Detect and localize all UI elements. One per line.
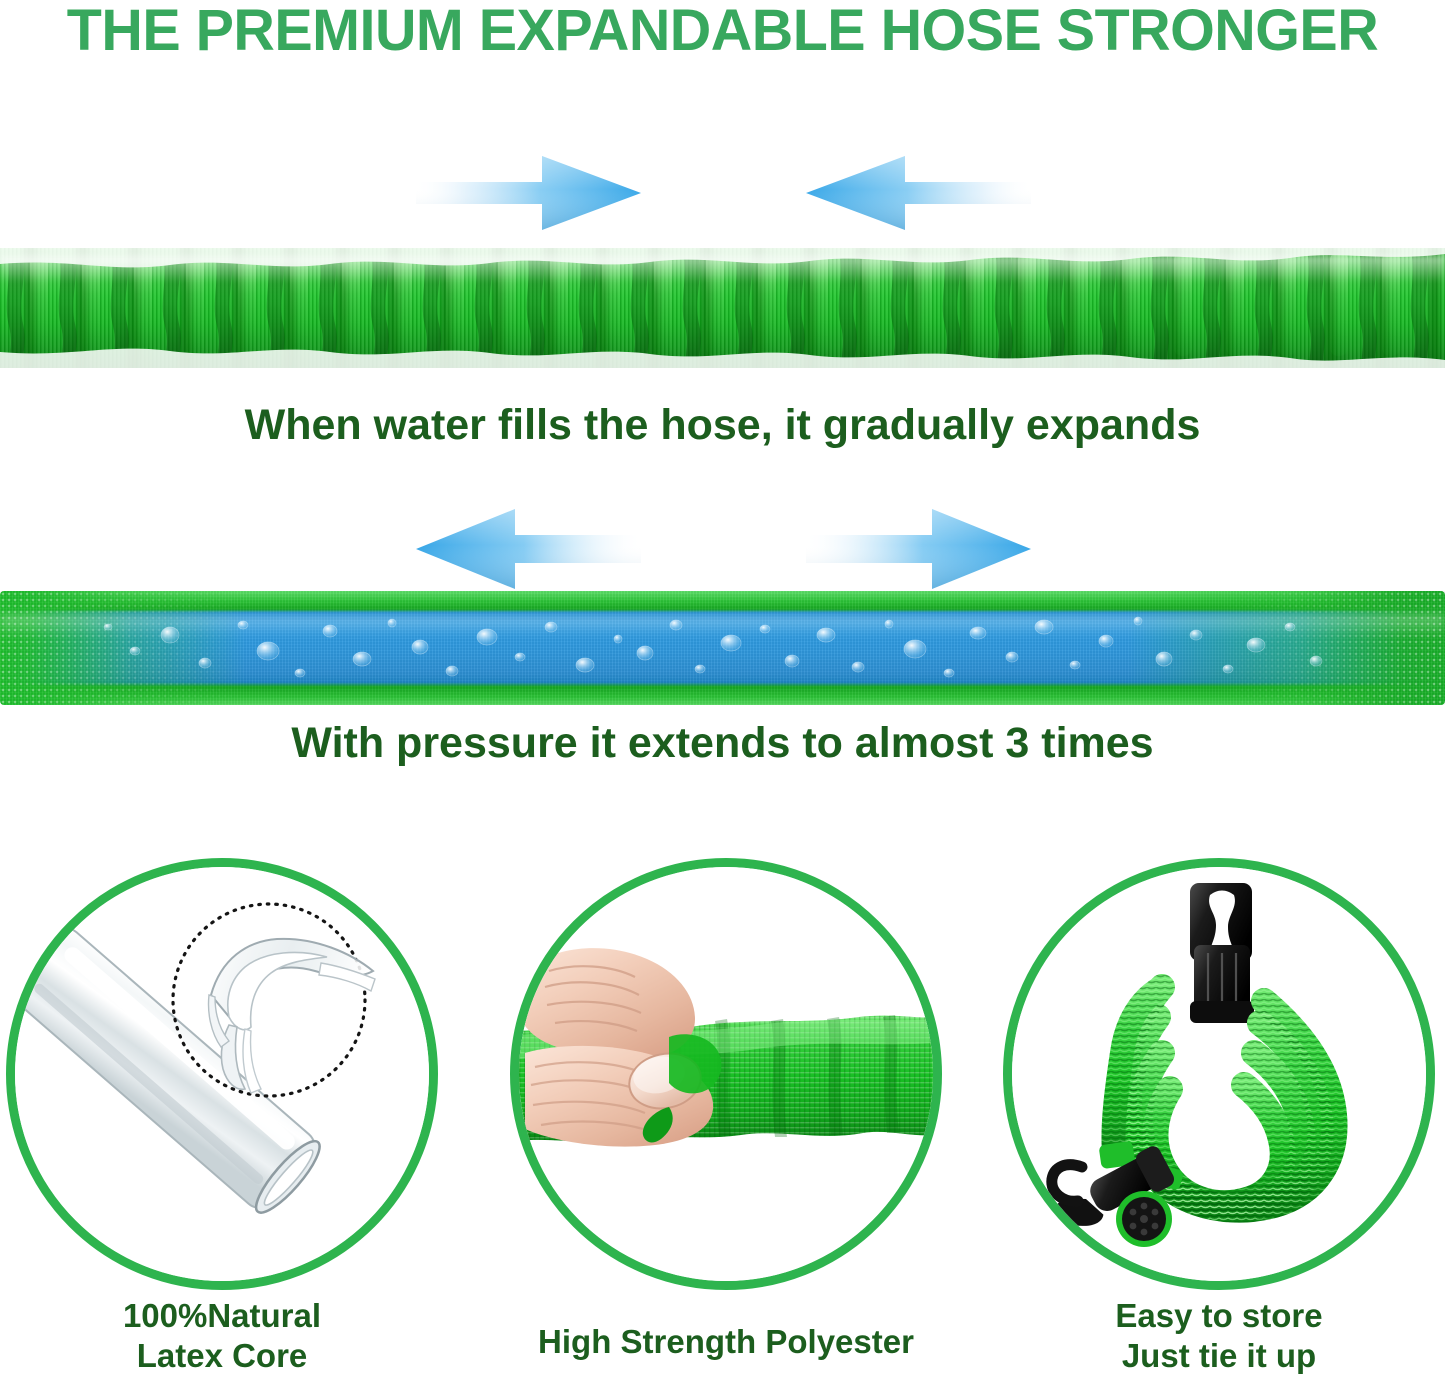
arrow-row-compress [0, 148, 1445, 238]
feature-circle-easy-store [1003, 858, 1435, 1290]
water-droplets-overlay [0, 591, 1445, 705]
arrow-left-compress-icon [806, 148, 1031, 238]
hose-expanded-illustration [0, 591, 1445, 705]
arrow-right-expand-icon [806, 505, 1031, 595]
feature-label-easy-store: Easy to store Just tie it up [1003, 1296, 1435, 1376]
arrow-row-expand [0, 505, 1445, 595]
caption-expanded: With pressure it extends to almost 3 tim… [0, 718, 1445, 768]
feature-image-latex-core [15, 867, 429, 1281]
feature-label-polyester: High Strength Polyester [510, 1322, 942, 1362]
page-title: THE PREMIUM EXPANDABLE HOSE STRONGER [7, 2, 1438, 60]
feature-circle-latex-core [6, 858, 438, 1290]
feature-label-latex-core: 100%Natural Latex Core [6, 1296, 438, 1376]
feature-image-easy-store [1012, 867, 1426, 1281]
feature-circle-polyester [510, 858, 942, 1290]
feature-image-polyester [519, 867, 933, 1281]
caption-contracted: When water fills the hose, it gradually … [0, 400, 1445, 450]
hose-contracted-illustration [0, 248, 1445, 368]
arrow-right-compress-icon [416, 148, 641, 238]
arrow-left-expand-icon [416, 505, 641, 595]
infographic-page: THE PREMIUM EXPANDABLE HOSE STRONGER [0, 0, 1445, 1381]
hose-gloss-highlight [0, 256, 1445, 282]
